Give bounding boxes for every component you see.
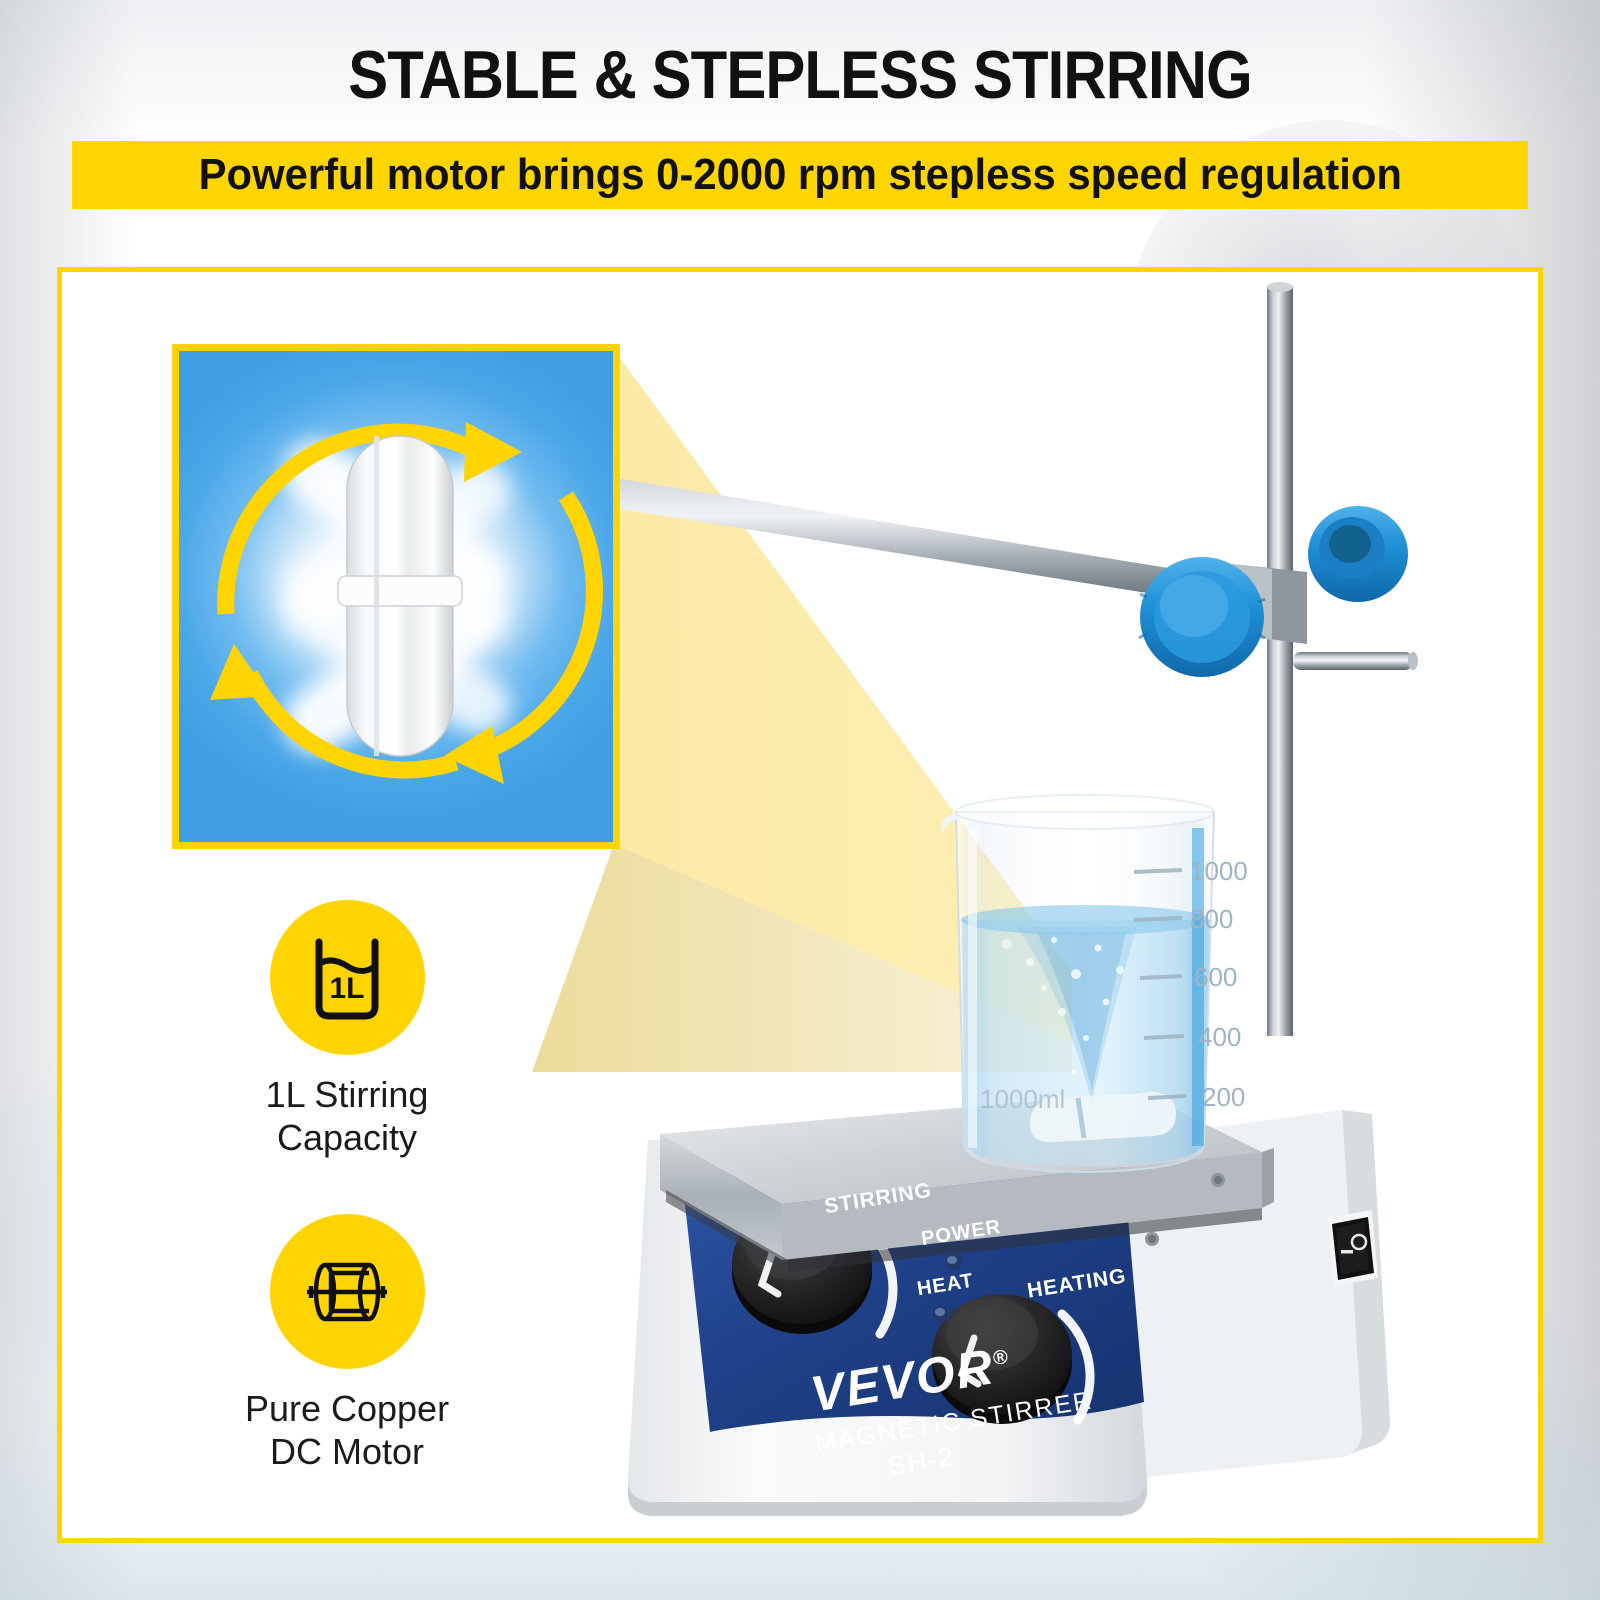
subtitle-banner: Powerful motor brings 0-2000 rpm steples… — [72, 141, 1528, 209]
feature-1l-label-line2: Capacity — [197, 1116, 497, 1159]
feature-dc-motor: Pure Copper DC Motor — [197, 1214, 497, 1473]
feature-motor-label: Pure Copper DC Motor — [197, 1387, 497, 1473]
graduation-800: 800 — [1190, 906, 1233, 932]
product-marketing-image: STABLE & STEPLESS STIRRING Powerful moto… — [0, 0, 1600, 1600]
stir-bar-magnified-view — [172, 344, 620, 849]
dc-motor-rotor-icon — [297, 1242, 397, 1342]
glass-beaker — [941, 795, 1214, 1172]
feature-motor-label-line2: DC Motor — [197, 1430, 497, 1473]
graduation-1000: 1000 — [1190, 858, 1248, 884]
dc-motor-rotor-icon-bubble — [270, 1214, 425, 1369]
stand-vertical-rod — [1267, 286, 1293, 1036]
stir-bar-pivot-ring — [338, 576, 462, 606]
beaker-icon-text: 1L — [329, 972, 364, 1005]
feature-motor-label-line1: Pure Copper — [197, 1387, 497, 1430]
beaker-1l-icon-bubble: 1L — [270, 900, 425, 1055]
graduation-200: 200 — [1202, 1084, 1245, 1110]
subtitle-text: Powerful motor brings 0-2000 rpm steples… — [198, 150, 1401, 200]
arrow-head-bottom-right — [444, 726, 504, 784]
stand-clamp-knob-rear — [1308, 506, 1408, 602]
brand-registered-mark: ® — [991, 1346, 1011, 1370]
page-title: STABLE & STEPLESS STIRRING — [96, 36, 1504, 114]
stir-bar — [338, 436, 462, 756]
stand-clamp-knob-front — [1139, 557, 1265, 677]
beaker-1l-icon: 1L — [297, 928, 397, 1028]
beaker-volume-label: 1000ml — [980, 1084, 1065, 1115]
power-rocker-switch — [1328, 1210, 1378, 1286]
graduation-400: 400 — [1198, 1024, 1241, 1050]
graduation-600: 600 — [1194, 964, 1237, 990]
feature-1l-capacity: 1L 1L Stirring Capacity — [197, 900, 497, 1159]
content-frame: 1L 1L Stirring Capacity — [57, 267, 1543, 1543]
arrow-head-left — [210, 644, 270, 700]
feature-1l-label: 1L Stirring Capacity — [197, 1073, 497, 1159]
feature-1l-label-line1: 1L Stirring — [197, 1073, 497, 1116]
inset-illustration — [172, 344, 620, 849]
